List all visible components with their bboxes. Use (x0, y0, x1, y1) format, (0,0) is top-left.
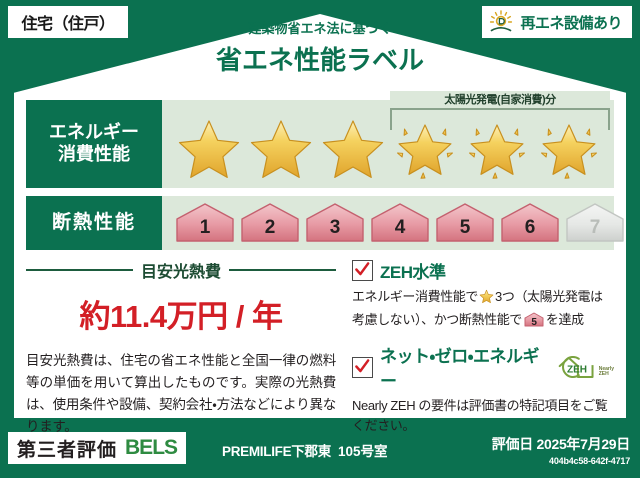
zeh-desc-part3: を達成 (546, 312, 584, 327)
insulation-level-7-value: 7 (564, 217, 626, 239)
energy-label-line2: 消費性能 (58, 144, 130, 166)
utility-cost-block: 目安光熱費 約11.4万円 / 年 目安光熱費は、住宅の省エネ性能と全国一律の燃… (26, 258, 336, 437)
insulation-level-6: 6 (499, 202, 561, 244)
star-solar-icon (534, 115, 604, 181)
net-zero-energy-item: ネット・ゼロ・エネルギー ZEH Nearly ZEH Nearly ZEH の… (352, 342, 614, 436)
insulation-level-2: 2 (239, 202, 301, 244)
label-footer: 第三者評価 BELS PREMILIFE下郡東 105号室 評価日 2025年7… (0, 426, 640, 478)
zeh-desc-level-value: 5 (524, 315, 544, 331)
insulation-level-3-value: 3 (304, 217, 366, 239)
net-zero-energy-heading: ネット・ゼロ・エネルギー ZEH Nearly ZEH (352, 342, 614, 392)
zeh-logo-subtext: Nearly ZEH (599, 367, 614, 381)
star-icon (174, 115, 244, 181)
utility-cost-heading-row: 目安光熱費 (26, 258, 336, 282)
insulation-label-text: 断熱性能 (52, 212, 136, 235)
insulation-performance-value: 1 2 3 (162, 196, 626, 250)
room-number: 105号室 (338, 440, 388, 460)
energy-label-line1: エネルギー (49, 122, 139, 144)
energy-performance-row: エネルギー 消費性能 太陽光発電(自家消費)分 (26, 100, 614, 188)
renewable-badge-label: 再エネ設備あり (520, 12, 622, 33)
insulation-level-6-value: 6 (499, 217, 561, 239)
insulation-level-3: 3 (304, 202, 366, 244)
building-name: PREMILIFE下郡東 (222, 440, 331, 460)
bels-certification-tag: 第三者評価 BELS (8, 432, 186, 464)
utility-cost-amount: 約11.4万円 / 年 (26, 291, 336, 336)
star-solar-icon (462, 115, 532, 181)
heading-rule-right (229, 269, 336, 271)
insulation-level-1: 1 (174, 202, 236, 244)
evaluation-id: 404b4c58-642f-4717 (492, 456, 630, 466)
zeh-desc-part1: エネルギー消費性能で (352, 289, 478, 304)
star-solar-icon (390, 115, 460, 181)
checkmark-icon (352, 357, 373, 378)
checkmark-icon (352, 260, 373, 281)
zeh-standard-heading: ZEH水準 (352, 258, 614, 283)
bels-en-label: BELS (125, 436, 177, 460)
star-icon (246, 115, 316, 181)
solar-portion-label: 太陽光発電(自家消費)分 (390, 91, 610, 107)
insulation-performance-row: 断熱性能 1 2 (26, 196, 614, 250)
star-icon (318, 115, 388, 181)
energy-performance-label: 住宅（住戸） 再エネ設備あり 建築物省 (0, 0, 640, 478)
utility-cost-heading: 目安光熱費 (141, 258, 221, 282)
performance-panel: エネルギー 消費性能 太陽光発電(自家消費)分 (26, 100, 614, 250)
insulation-level-scale: 1 2 3 (174, 202, 626, 244)
insulation-level-2-value: 2 (239, 217, 301, 239)
energy-star-rating (174, 115, 604, 181)
zeh-standard-item: ZEH水準 エネルギー消費性能で3つ（太陽光発電は考慮しない）、かつ断熱性能で5… (352, 258, 614, 330)
insulation-level-7: 7 (564, 202, 626, 244)
star-icon (479, 292, 494, 307)
utility-cost-note: 目安光熱費は、住宅の省エネ性能と全国一律の燃料等の単価を用いて算出したものです。… (26, 350, 336, 437)
insulation-level-4-value: 4 (369, 217, 431, 239)
insulation-level-5: 5 (434, 202, 496, 244)
evaluation-info: 評価日 2025年7月29日 404b4c58-642f-4717 (492, 434, 630, 466)
zeh-standard-description: エネルギー消費性能で3つ（太陽光発電は考慮しない）、かつ断熱性能で5を達成 (352, 287, 614, 330)
panel-divider (26, 188, 614, 196)
category-tag: 住宅（住戸） (8, 6, 128, 38)
insulation-level-4: 4 (369, 202, 431, 244)
zeh-claims-block: ZEH水準 エネルギー消費性能で3つ（太陽光発電は考慮しない）、かつ断熱性能で5… (352, 258, 614, 449)
evaluation-date: 評価日 2025年7月29日 (492, 434, 630, 454)
insulation-performance-label: 断熱性能 (26, 196, 162, 250)
energy-performance-label: エネルギー 消費性能 (26, 100, 162, 188)
net-zero-energy-title: ネット・ゼロ・エネルギー (380, 342, 545, 392)
category-tag-label: 住宅（住戸） (21, 10, 114, 34)
insulation-level-5-value: 5 (434, 217, 496, 239)
sun-solar-icon (488, 10, 514, 34)
page-title: 省エネ性能ラベル (0, 40, 640, 77)
zeh-logo-icon: ZEH Nearly ZEH (556, 354, 614, 380)
zeh-standard-title: ZEH水準 (380, 258, 446, 283)
svg-text:ZEH: ZEH (567, 365, 587, 376)
zeh-logo-subtext-line2: ZEH (599, 371, 609, 377)
energy-performance-value: 太陽光発電(自家消費)分 (162, 100, 614, 188)
bels-jp-label: 第三者評価 (17, 435, 117, 462)
insulation-level-1-value: 1 (174, 217, 236, 239)
renewable-equipment-badge: 再エネ設備あり (482, 6, 632, 38)
insulation-level-badge-icon: 5 (524, 312, 544, 327)
heading-rule-left (26, 269, 133, 271)
